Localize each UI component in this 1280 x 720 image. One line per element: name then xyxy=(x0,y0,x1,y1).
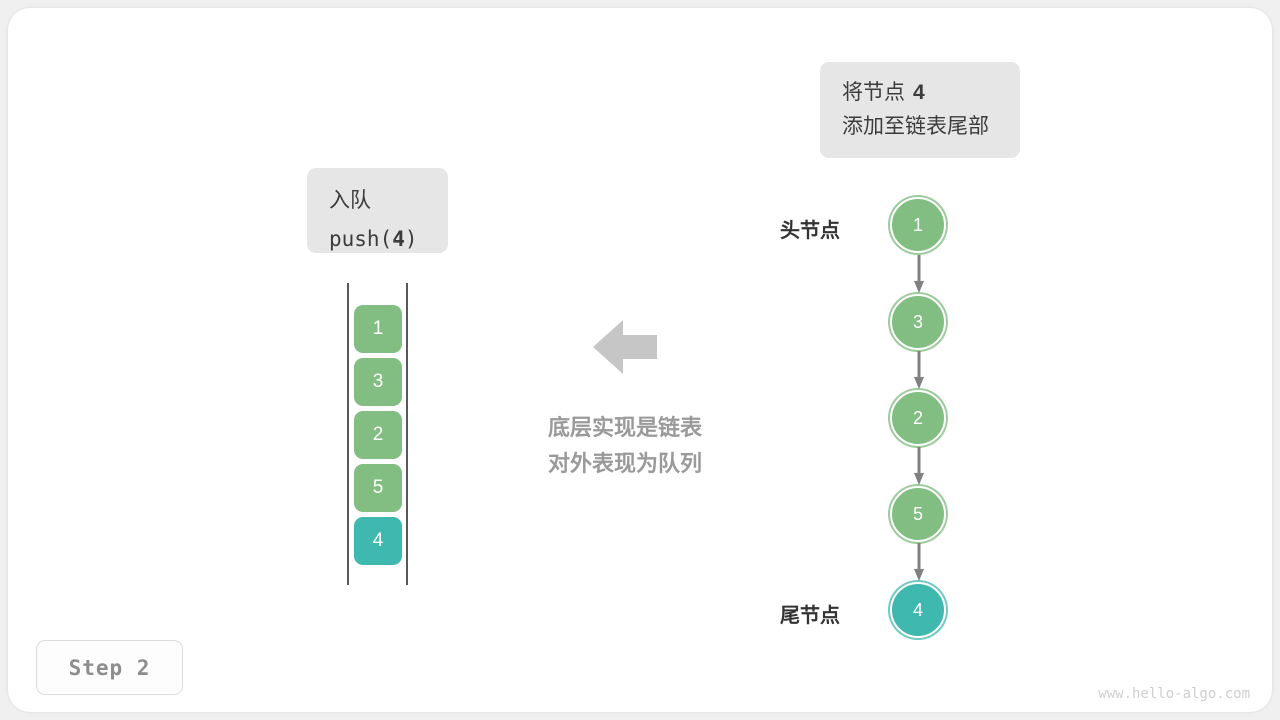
callout-append-node: 将节点 4 添加至链表尾部 xyxy=(820,62,1020,158)
arrow-down-icon xyxy=(913,255,925,300)
queue-cell: 5 xyxy=(354,464,402,512)
list-node-tail: 4 xyxy=(890,582,946,638)
queue-cell: 1 xyxy=(354,305,402,353)
watermark: www.hello-algo.com xyxy=(1098,686,1250,702)
queue-cell: 3 xyxy=(354,358,402,406)
center-caption-line2: 对外表现为队列 xyxy=(505,446,745,482)
callout-push-line1: 入队 xyxy=(329,185,371,218)
callout-push-operation: 入队 push(4) xyxy=(307,168,448,253)
queue-array-view: 1 3 2 5 4 xyxy=(340,283,420,588)
diagram-canvas: 入队 push(4) 将节点 4 添加至链表尾部 1 3 2 5 4 底层实现是… xyxy=(0,0,1280,720)
list-node: 5 xyxy=(890,486,946,542)
callout-append-line1-value: 4 xyxy=(913,77,925,110)
callout-push-code-prefix: push( xyxy=(329,223,392,256)
guide-line-left xyxy=(347,283,349,585)
arrow-down-icon xyxy=(913,447,925,492)
callout-push-code-suffix: ) xyxy=(405,223,418,256)
arrow-down-icon xyxy=(913,543,925,588)
callout-push-code-value: 4 xyxy=(392,223,405,256)
queue-cell-highlight: 4 xyxy=(354,517,402,565)
list-node: 2 xyxy=(890,390,946,446)
center-caption: 底层实现是链表 对外表现为队列 xyxy=(505,410,745,483)
arrow-left-icon xyxy=(593,318,657,376)
guide-line-right xyxy=(406,283,408,585)
arrow-down-icon xyxy=(913,351,925,396)
callout-append-line2: 添加至链表尾部 xyxy=(842,111,989,144)
center-caption-line1: 底层实现是链表 xyxy=(505,410,745,446)
callout-append-line1-prefix: 将节点 xyxy=(842,77,905,110)
linked-list-view: 头节点 尾节点 1 3 2 5 4 xyxy=(780,190,980,645)
tail-node-label: 尾节点 xyxy=(780,599,840,628)
list-node: 1 xyxy=(890,197,946,253)
head-node-label: 头节点 xyxy=(780,214,840,243)
queue-cell: 2 xyxy=(354,411,402,459)
list-node: 3 xyxy=(890,294,946,350)
step-badge: Step 2 xyxy=(36,640,183,695)
